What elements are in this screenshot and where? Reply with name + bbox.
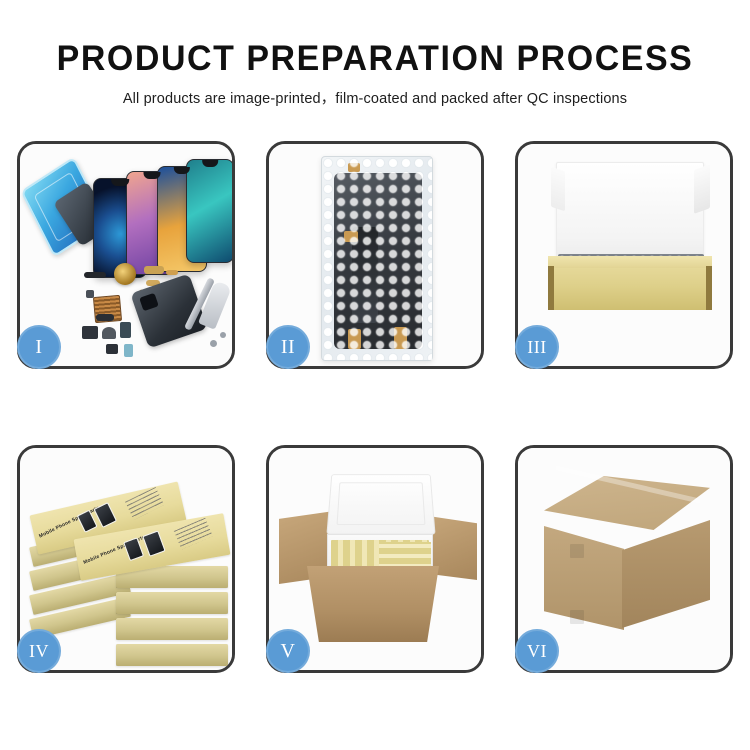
small-screw-a xyxy=(210,340,217,347)
process-steps-grid: I II xyxy=(17,141,733,673)
foam-box-lid xyxy=(326,474,435,534)
step-badge-5: V xyxy=(266,629,310,673)
box-spec-lines-top xyxy=(125,487,164,520)
carton-handle-tab-bottom xyxy=(570,610,584,624)
step-panel-boxes-stacked: Mobile Phone Spare Parts Mobile Phone Sp… xyxy=(17,445,235,673)
step-panel-inner-box-packing: III xyxy=(515,141,733,369)
carton-front-face xyxy=(544,526,624,630)
box-stack: Mobile Phone Spare Parts Mobile Phone Sp… xyxy=(28,470,230,660)
sensor-part xyxy=(124,344,133,357)
box-edge-right xyxy=(706,266,712,310)
carton-side-face xyxy=(622,520,710,628)
step-panel-sealed-carton: VI xyxy=(515,445,733,673)
box-art-phone-d xyxy=(142,530,165,556)
bubble-wrap-bag xyxy=(321,156,433,361)
stacked-box-r4 xyxy=(116,644,228,666)
screw-part xyxy=(86,290,94,298)
sim-tray-part xyxy=(120,322,131,338)
product-preparation-infographic: PRODUCT PREPARATION PROCESS All products… xyxy=(0,0,750,750)
step-badge-2: II xyxy=(266,325,310,369)
step-panel-bubble-wrapping: II xyxy=(266,141,484,369)
antenna-strip-part xyxy=(96,314,114,321)
small-screw-b xyxy=(220,332,226,338)
tape-piece-1 xyxy=(348,163,360,172)
flex-cable-part xyxy=(84,272,106,278)
page-title: PRODUCT PREPARATION PROCESS xyxy=(11,38,739,80)
box-spec-lines-second xyxy=(174,518,213,550)
page-subtitle: All products are image-printed，film-coat… xyxy=(0,89,750,109)
stacked-box-r2 xyxy=(116,592,228,614)
tape-piece-3 xyxy=(348,329,361,349)
box-edge-left xyxy=(548,266,554,310)
camera-module-part xyxy=(82,326,98,339)
tape-piece-2 xyxy=(344,231,358,242)
tape-piece-4 xyxy=(394,327,407,349)
step-panel-product-components: I xyxy=(17,141,235,369)
box-art-phone-b xyxy=(93,502,117,528)
step-panel-foam-carton-loading: V xyxy=(266,445,484,673)
speaker-coil-icon xyxy=(114,263,136,285)
speaker-part xyxy=(102,327,116,339)
carton-body xyxy=(307,566,439,642)
step-badge-3: III xyxy=(515,325,559,369)
step-badge-1: I xyxy=(17,325,61,369)
phone-display-4 xyxy=(186,159,232,263)
kraft-box-tray xyxy=(548,266,712,310)
wrapped-part xyxy=(334,173,422,349)
header: PRODUCT PREPARATION PROCESS All products… xyxy=(0,0,750,109)
bracket-part xyxy=(106,344,118,354)
carton-handle-tab-top xyxy=(570,544,584,558)
stacked-box-r3 xyxy=(116,618,228,640)
gold-pin-part xyxy=(166,270,178,275)
gold-contact-part xyxy=(144,266,164,274)
step-badge-4: IV xyxy=(17,629,61,673)
step-badge-6: VI xyxy=(515,629,559,673)
